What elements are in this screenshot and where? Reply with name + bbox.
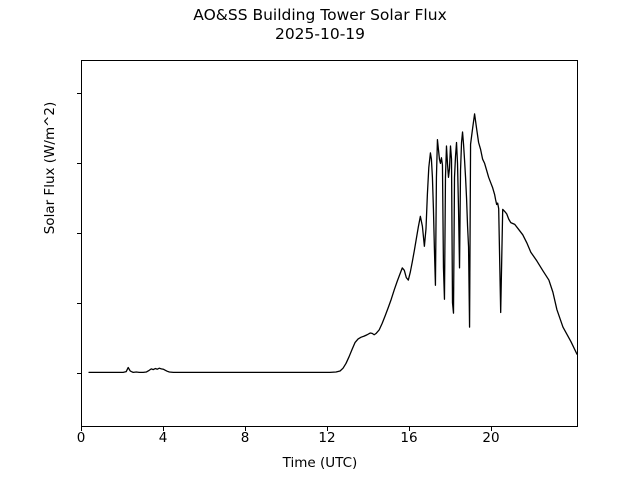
x-axis-label: Time (UTC) xyxy=(0,455,640,471)
xtick-mark-4 xyxy=(163,427,164,431)
figure-title-block: AO&SS Building Tower Solar Flux 2025-10-… xyxy=(0,6,640,44)
solar-flux-figure: AO&SS Building Tower Solar Flux 2025-10-… xyxy=(0,0,640,480)
xtick-mark-0 xyxy=(81,427,82,431)
chart-subtitle: 2025-10-19 xyxy=(0,25,640,44)
xtick-label-16: 16 xyxy=(389,432,429,446)
page-title: AO&SS Building Tower Solar Flux xyxy=(0,6,640,25)
plot-area xyxy=(81,60,578,427)
y-axis-label: Solar Flux (W/m^2) xyxy=(42,38,58,298)
series-path-solar-flux xyxy=(89,114,577,372)
xtick-label-8: 8 xyxy=(225,432,265,446)
xtick-label-0: 0 xyxy=(61,432,101,446)
xtick-label-20: 20 xyxy=(471,432,511,446)
xtick-mark-16 xyxy=(409,427,410,431)
solar-flux-line-series xyxy=(82,61,577,426)
xtick-label-12: 12 xyxy=(307,432,347,446)
xtick-mark-20 xyxy=(491,427,492,431)
xtick-mark-8 xyxy=(245,427,246,431)
xtick-label-4: 4 xyxy=(143,432,183,446)
xtick-mark-12 xyxy=(327,427,328,431)
